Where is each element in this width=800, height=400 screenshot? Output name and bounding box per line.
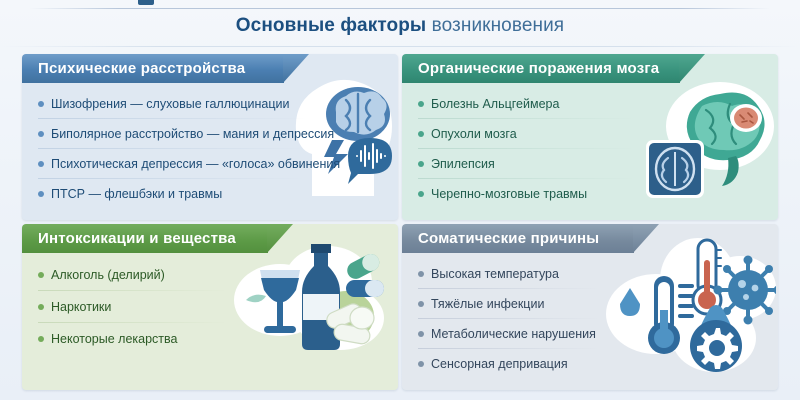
list-item[interactable]: Некоторые лекарства xyxy=(22,323,398,354)
bullet-icon xyxy=(418,101,424,107)
list-item-label: Высокая температура xyxy=(431,267,559,281)
list-item[interactable]: Метаболические нарушения xyxy=(402,319,778,348)
list-item-label: Шизофрения — слуховые галлюцинации xyxy=(51,97,290,111)
top-strip xyxy=(0,0,800,10)
list-item-label: ПТСР — флешбэки и травмы xyxy=(51,187,222,201)
page-title: Основные факторы возникновения xyxy=(0,15,800,37)
list-item-label: Тяжёлые инфекции xyxy=(431,297,544,311)
title-divider xyxy=(0,46,800,47)
list-item-label: Болезнь Альцгеймера xyxy=(431,97,559,111)
bullet-icon xyxy=(38,191,44,197)
card-title: Органические поражения мозга xyxy=(418,60,659,77)
list-item[interactable]: Алкоголь (делирий) xyxy=(22,259,398,290)
cut-off-element xyxy=(138,0,154,5)
card-intoxication-substances[interactable]: Интоксикации и вещества xyxy=(22,224,398,390)
list-item-label: Опухоли мозга xyxy=(431,127,517,141)
card-items-list: Алкоголь (делирий) Наркотики Некоторые л… xyxy=(22,253,398,354)
list-item[interactable]: Психотическая депрессия — «голоса» обвин… xyxy=(22,149,398,178)
list-item[interactable]: Болезнь Альцгеймера xyxy=(402,89,778,118)
card-title: Интоксикации и вещества xyxy=(38,230,236,247)
list-item[interactable]: Сенсорная депривация xyxy=(402,349,778,378)
list-item-label: Черепно-мозговые травмы xyxy=(431,187,587,201)
card-title-banner: Соматические причины xyxy=(402,224,634,253)
top-divider xyxy=(30,8,770,9)
bullet-icon xyxy=(418,161,424,167)
list-item[interactable]: Опухоли мозга xyxy=(402,119,778,148)
card-items-list: Шизофрения — слуховые галлюцинации Бипол… xyxy=(22,83,398,208)
page-title-strong: Основные факторы xyxy=(236,15,426,36)
list-item[interactable]: Биполярное расстройство — мания и депрес… xyxy=(22,119,398,148)
card-items-list: Высокая температура Тяжёлые инфекции Мет… xyxy=(402,253,778,378)
card-title: Психические расстройства xyxy=(38,60,245,77)
list-item-label: Метаболические нарушения xyxy=(431,327,596,341)
bullet-icon xyxy=(38,101,44,107)
list-item-label: Алкоголь (делирий) xyxy=(51,268,165,282)
bullet-icon xyxy=(38,131,44,137)
bullet-icon xyxy=(38,304,44,310)
card-somatic-causes[interactable]: Соматические причины xyxy=(402,224,778,390)
card-title: Соматические причины xyxy=(418,230,599,247)
list-item-label: Психотическая депрессия — «голоса» обвин… xyxy=(51,157,340,171)
bullet-icon xyxy=(418,361,424,367)
bullet-icon xyxy=(418,271,424,277)
card-title-banner: Органические поражения мозга xyxy=(402,54,680,83)
bullet-icon xyxy=(418,331,424,337)
card-items-list: Болезнь Альцгеймера Опухоли мозга Эпилеп… xyxy=(402,83,778,208)
list-item-label: Сенсорная депривация xyxy=(431,357,568,371)
list-item[interactable]: ПТСР — флешбэки и травмы xyxy=(22,179,398,208)
card-mental-disorders[interactable]: Психические расстройства xyxy=(22,54,398,220)
list-item[interactable]: Тяжёлые инфекции xyxy=(402,289,778,318)
list-item-label: Эпилепсия xyxy=(431,157,495,171)
factors-grid: Психические расстройства xyxy=(22,54,778,394)
list-item[interactable]: Черепно-мозговые травмы xyxy=(402,179,778,208)
bullet-icon xyxy=(418,191,424,197)
bullet-icon xyxy=(38,336,44,342)
bullet-icon xyxy=(418,301,424,307)
list-item[interactable]: Высокая температура xyxy=(402,259,778,288)
list-item[interactable]: Шизофрения — слуховые галлюцинации xyxy=(22,89,398,118)
card-organic-brain-lesions[interactable]: Органические поражения мозга xyxy=(402,54,778,220)
bullet-icon xyxy=(38,272,44,278)
list-item-label: Некоторые лекарства xyxy=(51,332,177,346)
list-item[interactable]: Наркотики xyxy=(22,291,398,322)
bullet-icon xyxy=(418,131,424,137)
bullet-icon xyxy=(38,161,44,167)
card-title-banner: Психические расстройства xyxy=(22,54,284,83)
list-item[interactable]: Эпилепсия xyxy=(402,149,778,178)
page-title-light: возникновения xyxy=(432,15,565,36)
card-title-banner: Интоксикации и вещества xyxy=(22,224,268,253)
list-item-label: Наркотики xyxy=(51,300,111,314)
list-item-label: Биполярное расстройство — мания и депрес… xyxy=(51,127,334,141)
